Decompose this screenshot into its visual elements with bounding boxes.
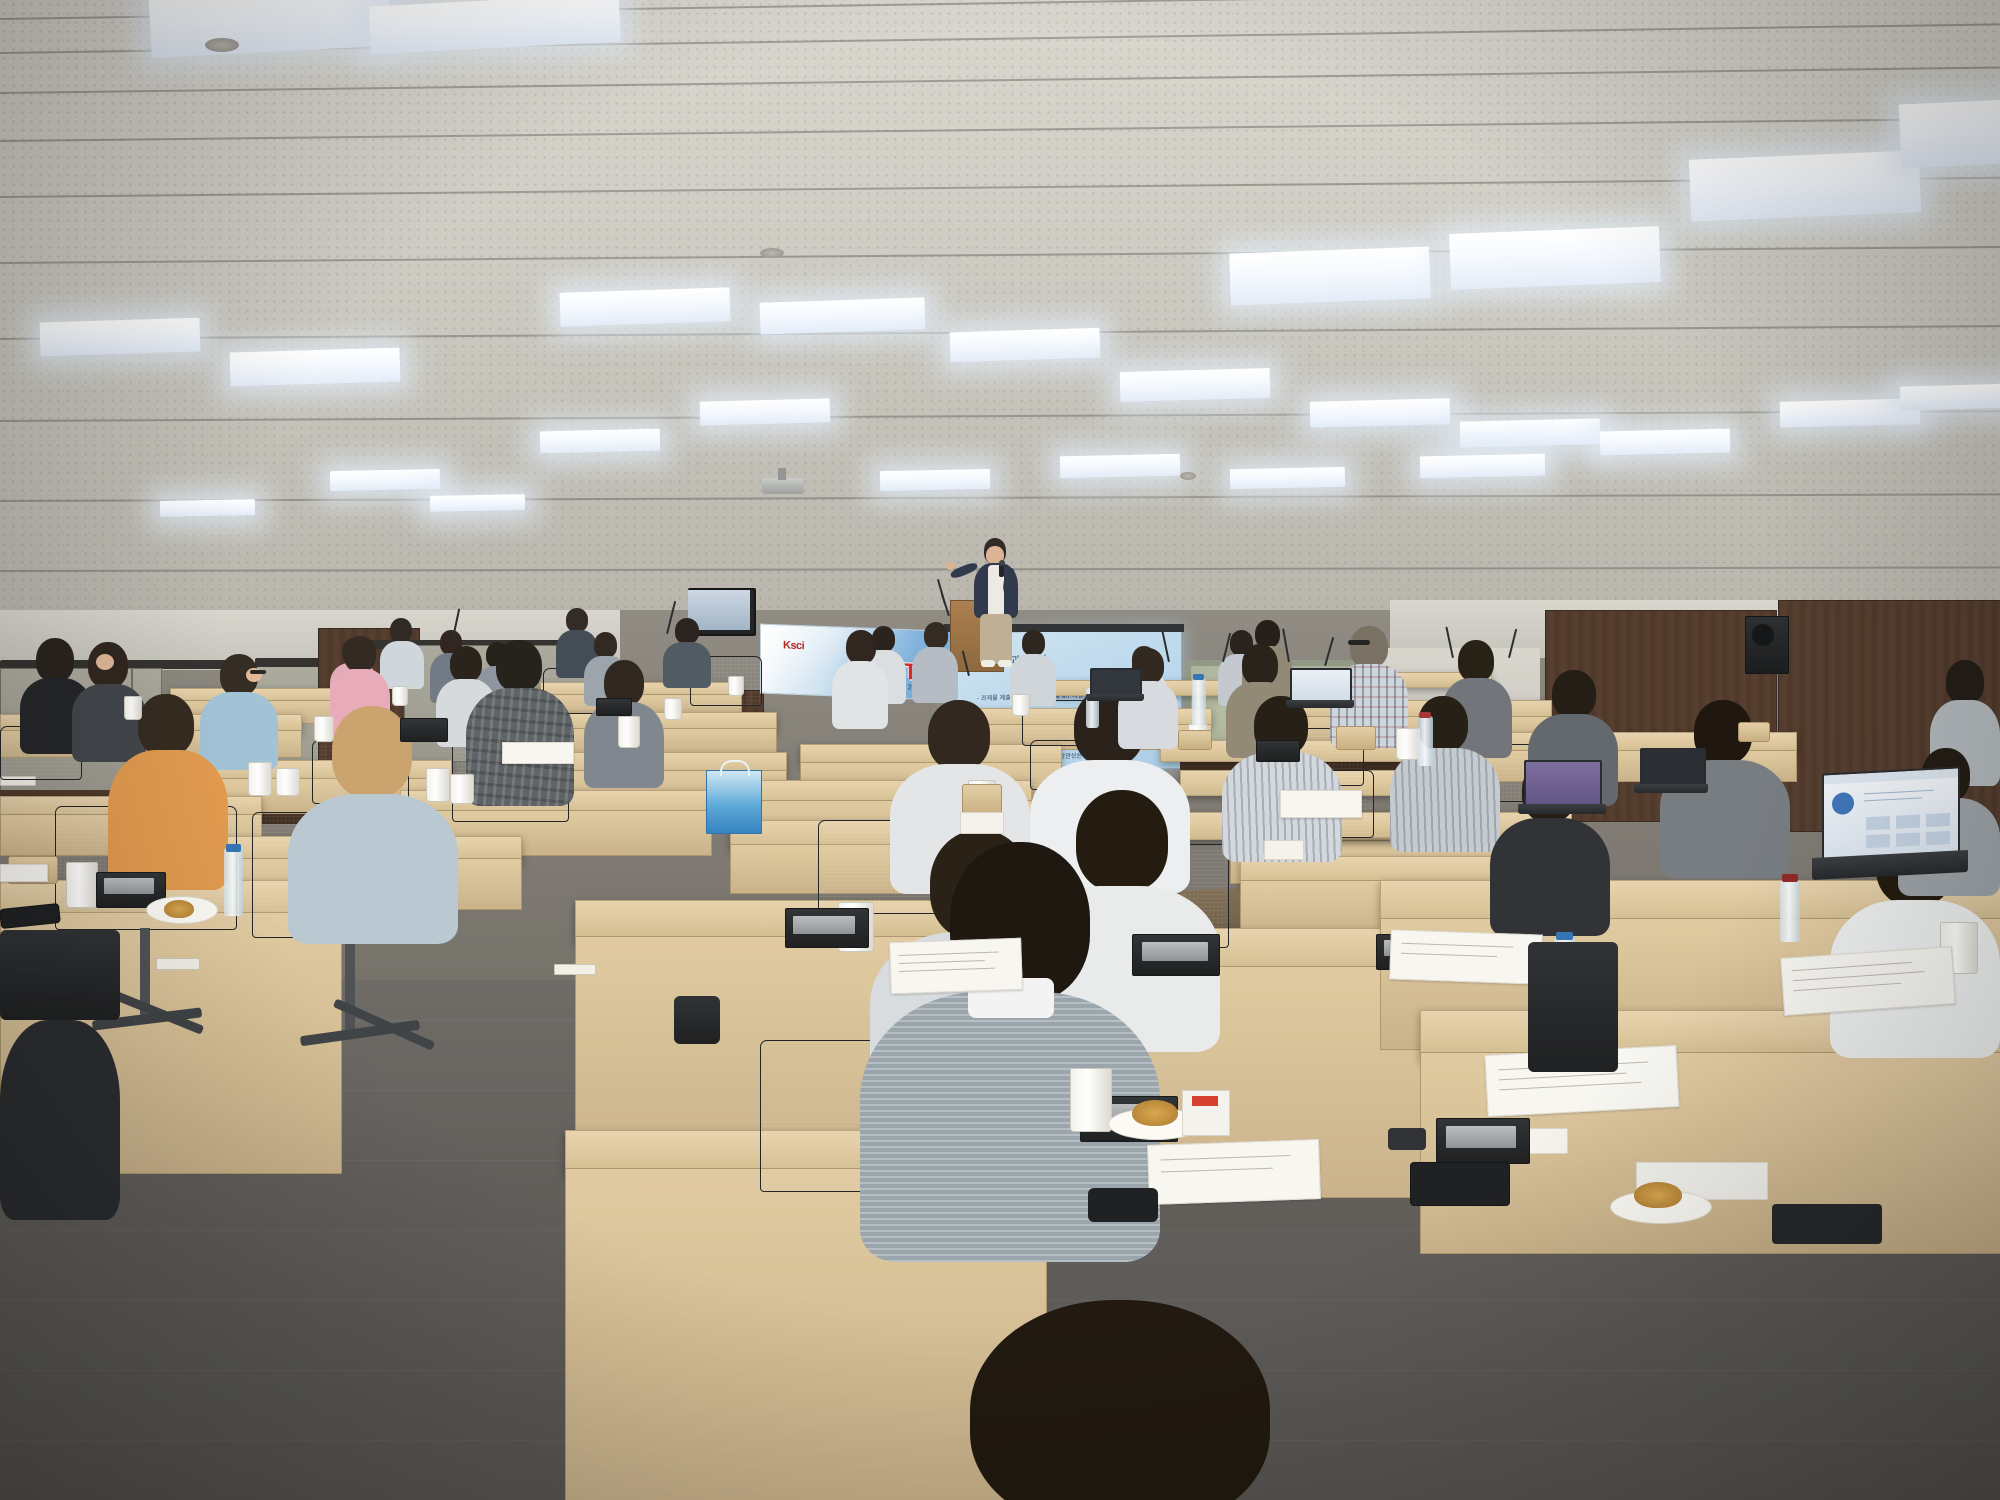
ceiling-vent (1180, 472, 1196, 480)
laptop-4-keyboard[interactable] (1086, 694, 1144, 701)
blue-gift-bag (706, 770, 762, 834)
paper-cup-4 (426, 768, 450, 802)
ceiling-vent (205, 38, 239, 52)
attendee-m19 (1222, 696, 1342, 856)
ceiling-light-panel (559, 287, 730, 327)
projector-mount (778, 468, 786, 480)
portable-speaker (1772, 1204, 1882, 1244)
paper-cup-5 (450, 774, 474, 804)
car-key-fob (1388, 1128, 1426, 1150)
milk-carton-label (1192, 1096, 1218, 1106)
microphone-head-icon (999, 560, 1005, 566)
lecture-hall-photo: Ksci 챗GPT 시 일시: 2023. 9. 16 (토) 1 분석 결과 … (0, 0, 2000, 1500)
handout-8 (1147, 1139, 1321, 1205)
tissue-box-2 (960, 812, 1004, 834)
handbag-1 (0, 930, 120, 1020)
bottle-cap-3 (1419, 712, 1431, 718)
chair-post-2 (345, 936, 355, 1036)
banner-logo: Ksci (783, 639, 804, 652)
ceiling-light-panel (230, 348, 401, 387)
paper-cup-18 (1070, 1068, 1112, 1132)
handout-3 (1389, 929, 1543, 984)
pastry-2 (1132, 1100, 1178, 1126)
paper-cup-11 (728, 676, 744, 696)
laptop-3-keyboard[interactable] (1286, 700, 1354, 708)
wooden-gift-box-3 (1178, 730, 1212, 750)
paper-cup-7 (314, 716, 334, 742)
ceiling-light-panel (540, 429, 660, 454)
ceiling-light-panel (1310, 398, 1451, 428)
ceiling-light-panel (700, 398, 831, 425)
pastry-1 (164, 900, 194, 918)
gift-bag-handle (720, 760, 750, 776)
water-bottle-3 (1418, 716, 1433, 766)
paper-cup-3 (276, 768, 300, 796)
desk-nameplate-2 (554, 964, 596, 975)
attendee-f4 (930, 1300, 1310, 1500)
ceiling-light-panel (1900, 383, 2000, 410)
water-bottle-2 (1192, 678, 1206, 726)
wooden-gift-box-2 (1336, 726, 1376, 750)
ceiling-light-panel (1060, 454, 1180, 479)
ceiling-light-panel (40, 318, 201, 357)
handout-1 (889, 938, 1023, 995)
bottle-cap-5 (1782, 874, 1798, 882)
laptop-5-keyboard[interactable] (1634, 784, 1708, 793)
bag-2 (674, 996, 720, 1044)
handout-4 (1780, 946, 1956, 1016)
phone-case (1088, 1188, 1158, 1222)
handout-5 (1280, 790, 1362, 818)
ceiling-projector (762, 478, 804, 494)
pastry-3 (1634, 1182, 1682, 1208)
ceiling-light-panel (160, 499, 255, 517)
desk-nameplate-1 (156, 958, 200, 970)
laptop-2-keyboard[interactable] (1518, 804, 1606, 814)
ceiling-light-panel (1600, 428, 1731, 455)
conference-mic-5 (1256, 740, 1300, 762)
bottle-cap-1 (226, 844, 241, 852)
paper-cup-6 (618, 716, 640, 748)
attendee-m8 (108, 694, 228, 884)
wooden-gift-box-5 (1738, 722, 1770, 742)
water-bottle-1 (224, 848, 243, 916)
paper-cup-10 (664, 698, 682, 720)
laptop-2-screen[interactable] (1524, 760, 1602, 810)
presenter-left-hand (946, 562, 955, 570)
paper-cup-15 (1396, 728, 1420, 760)
conference-mic-2 (400, 718, 448, 742)
attendee-b9 (912, 622, 958, 700)
bottle-cap-4 (1556, 932, 1573, 940)
handout-6 (502, 742, 574, 764)
eyeglasses-icon (250, 670, 266, 674)
ceiling-light-panel (1899, 95, 2000, 168)
paper-cup-16 (1012, 694, 1030, 716)
ceiling-light-panel (1120, 368, 1271, 402)
bottle-cap-2 (1193, 674, 1204, 680)
presenter-shoe-left (981, 660, 995, 667)
attendee-b2 (663, 618, 711, 686)
ceiling-light-panel (760, 297, 926, 334)
mic-plate-9 (1446, 1126, 1516, 1148)
attendee-m6 (466, 640, 574, 800)
ceiling-light-panel (1449, 226, 1661, 290)
tissue-box-3 (1264, 840, 1304, 860)
paper-cup-8 (124, 696, 142, 720)
attendee-f5 (0, 1020, 120, 1220)
paper-cup-2 (248, 762, 272, 796)
presenter-trousers (980, 614, 1012, 664)
attendee-f3 (860, 842, 1160, 1242)
water-bottle-5 (1780, 880, 1800, 942)
eyeglasses-icon-2 (1348, 640, 1370, 645)
mic-plate-3 (793, 916, 855, 934)
ceiling-vent (760, 248, 784, 258)
ceiling-light-panel (430, 494, 525, 512)
attendee-m18 (1390, 696, 1500, 846)
ceiling-light-panel (1460, 418, 1601, 447)
conference-mic-7 (596, 698, 632, 716)
handout-7 (0, 864, 48, 882)
ceiling-light-panel (1689, 150, 1921, 222)
mic-plate-4 (1142, 942, 1208, 961)
ceiling-light-panel (1229, 246, 1431, 305)
smartphone-2[interactable] (1410, 1162, 1510, 1206)
backpack-1 (1528, 942, 1618, 1072)
ceiling-light-panel (330, 469, 440, 491)
laptop-1-screen[interactable] (1822, 766, 1960, 863)
ceiling-light-panel (1420, 454, 1545, 479)
paper-cup-9 (392, 686, 408, 706)
ceiling-light-panel (1230, 467, 1345, 489)
paper-cup-1 (66, 862, 98, 908)
mic-plate-1 (104, 878, 154, 894)
attendee-m10 (832, 630, 888, 726)
speaker-cone-icon (1752, 624, 1774, 646)
ceiling-light-panel (950, 328, 1101, 363)
ceiling-light-panel (880, 469, 990, 491)
